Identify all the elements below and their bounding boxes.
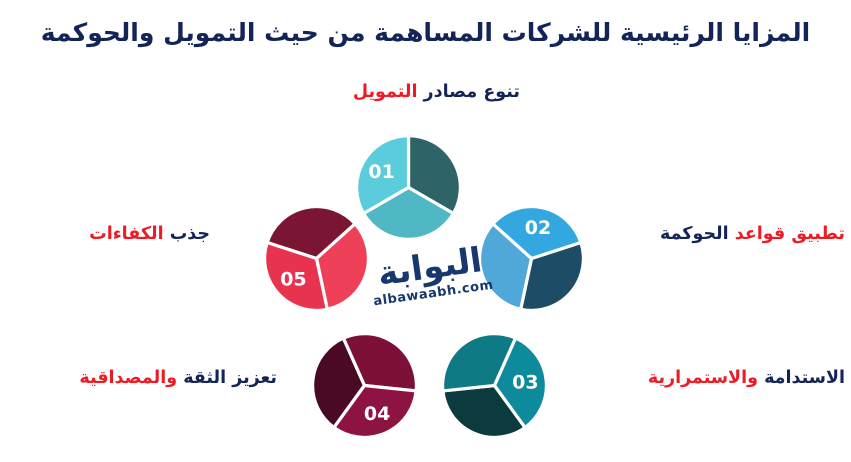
benefit-label-1: تنوع مصادر التمويل: [0, 82, 520, 103]
benefit-label-5-navy: جذب: [170, 224, 210, 244]
pie-chart-3: 03: [441, 332, 548, 439]
pie-chart-2: 02: [478, 205, 585, 312]
pie-chart-1: 01: [355, 134, 462, 241]
benefit-label-3-red: والاستمرارية: [648, 368, 758, 388]
benefit-label-1-red: التمويل: [353, 82, 418, 102]
benefit-label-4-red: والمصداقية: [79, 368, 177, 388]
pie-number-label: 05: [280, 268, 306, 290]
pie-number-label: 04: [364, 403, 390, 425]
benefit-label-5-red: الكفاءات: [89, 224, 163, 244]
watermark-brand: البوابة: [363, 241, 496, 293]
benefit-label-3-navy: الاستدامة: [764, 368, 845, 388]
infographic-canvas: المزايا الرئيسية للشركات المساهمة من حيث…: [0, 0, 851, 462]
benefit-label-1-navy: تنوع مصادر: [424, 82, 520, 102]
benefit-label-2-red: تطبيق قواعد: [735, 224, 845, 244]
pie-number-label: 03: [512, 371, 538, 393]
benefit-label-4-navy: تعزيز الثقة: [183, 368, 277, 388]
benefit-label-2-navy: الحوكمة: [660, 224, 729, 244]
pie-number-label: 02: [525, 217, 551, 239]
pie-chart-4: 04: [311, 332, 418, 439]
pie-number-label: 01: [368, 161, 394, 183]
benefit-label-3: الاستدامة والاستمرارية: [575, 368, 845, 389]
benefit-label-5: جذب الكفاءات: [5, 224, 210, 245]
benefit-label-2: تطبيق قواعد الحوكمة: [600, 224, 845, 245]
page-title: المزايا الرئيسية للشركات المساهمة من حيث…: [0, 18, 851, 47]
pie-chart-5: 05: [263, 205, 370, 312]
benefit-label-4: تعزيز الثقة والمصداقية: [5, 368, 277, 389]
